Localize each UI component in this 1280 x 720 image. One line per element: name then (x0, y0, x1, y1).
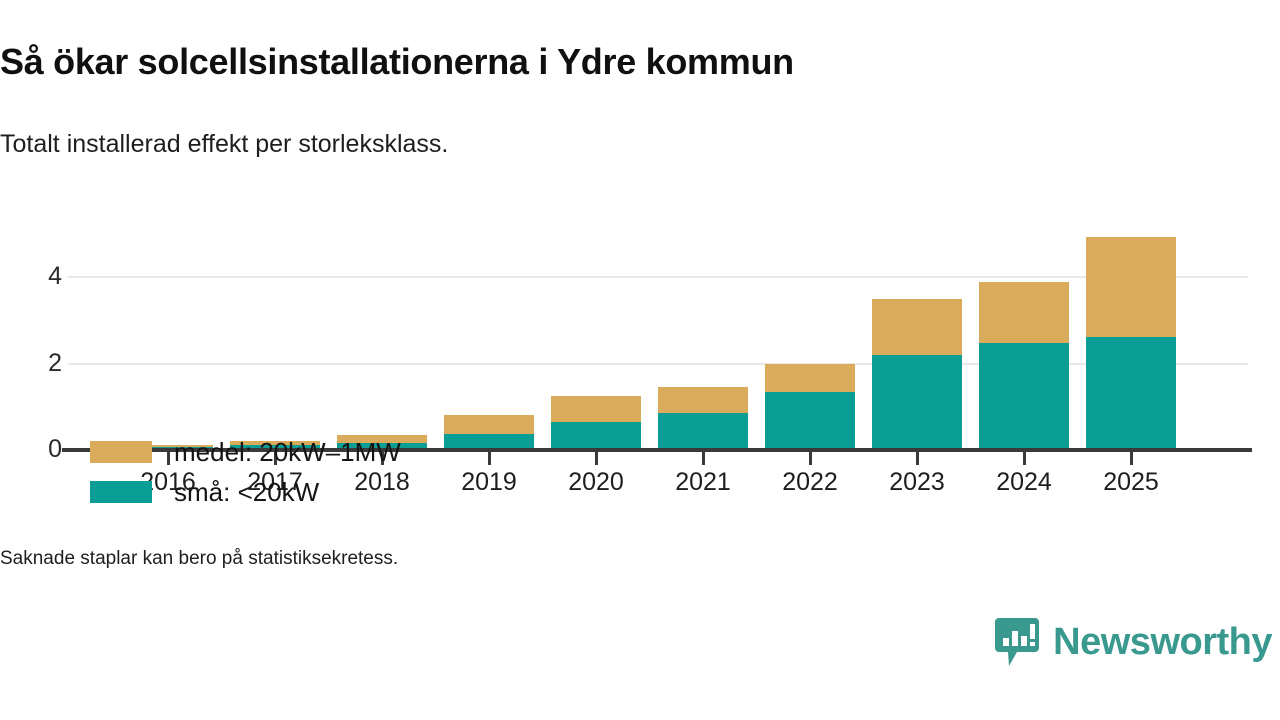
x-tick-label-2022: 2022 (750, 468, 870, 497)
bar-segment-sma-2023[interactable] (872, 355, 962, 450)
footnote: Saknade staplar kan bero på statistiksek… (0, 548, 398, 570)
page-title: Så ökar solcellsinstallationerna i Ydre … (0, 42, 1240, 82)
bar-segment-sma-2021[interactable] (658, 413, 748, 450)
x-tick-label-2020: 2020 (536, 468, 656, 497)
bar-group-2022[interactable] (765, 364, 855, 450)
x-tick-2019 (488, 452, 491, 465)
x-tick-label-2021: 2021 (643, 468, 763, 497)
y-tick-label-0: 0 (16, 437, 62, 462)
bar-segment-sma-2020[interactable] (551, 422, 641, 450)
legend-item-medel[interactable]: medel: 20kW–1MW (90, 432, 401, 472)
bar-segment-sma-2022[interactable] (765, 392, 855, 450)
x-tick-2024 (1023, 452, 1026, 465)
bar-segment-sma-2025[interactable] (1086, 337, 1176, 450)
bar-segment-medel-2019[interactable] (444, 415, 534, 434)
plot-area (68, 200, 1248, 450)
x-tick-2020 (595, 452, 598, 465)
x-tick-2025 (1130, 452, 1133, 465)
x-tick-label-2024: 2024 (964, 468, 1084, 497)
bar-segment-medel-2021[interactable] (658, 387, 748, 413)
legend-swatch-sma (90, 481, 152, 503)
bar-segment-medel-2023[interactable] (872, 299, 962, 355)
x-tick-2023 (916, 452, 919, 465)
y-tick-label-4: 4 (16, 264, 62, 289)
bar-segment-medel-2025[interactable] (1086, 237, 1176, 336)
bar-group-2025[interactable] (1086, 237, 1176, 450)
bar-chart: 024 201620172018201920202021202220232024… (0, 200, 1280, 520)
y-tick-label-2: 2 (16, 351, 62, 376)
legend-label-medel: medel: 20kW–1MW (174, 437, 401, 468)
page-subtitle: Totalt installerad effekt per storlekskl… (0, 130, 1200, 159)
brand-logo[interactable]: Newsworthy (995, 618, 1272, 666)
chart-legend: medel: 20kW–1MW små: <20kW (90, 432, 401, 512)
chart-page: Så ökar solcellsinstallationerna i Ydre … (0, 0, 1280, 720)
x-tick-label-2025: 2025 (1071, 468, 1191, 497)
bar-group-2024[interactable] (979, 282, 1069, 450)
x-tick-label-2019: 2019 (429, 468, 549, 497)
legend-swatch-medel (90, 441, 152, 463)
brand-name: Newsworthy (1053, 621, 1272, 664)
bar-segment-medel-2024[interactable] (979, 282, 1069, 343)
y-axis: 024 (0, 200, 62, 450)
bar-segment-medel-2020[interactable] (551, 396, 641, 423)
bar-group-2023[interactable] (872, 299, 962, 450)
x-tick-2022 (809, 452, 812, 465)
legend-label-sma: små: <20kW (174, 477, 319, 508)
x-tick-label-2023: 2023 (857, 468, 977, 497)
bar-series-container (68, 200, 1248, 450)
bar-group-2020[interactable] (551, 396, 641, 450)
bar-group-2019[interactable] (444, 415, 534, 450)
bar-chart-speech-bubble-icon (995, 618, 1039, 666)
bar-segment-medel-2022[interactable] (765, 364, 855, 393)
bar-group-2021[interactable] (658, 387, 748, 450)
legend-item-sma[interactable]: små: <20kW (90, 472, 401, 512)
bar-segment-sma-2024[interactable] (979, 343, 1069, 450)
x-tick-2021 (702, 452, 705, 465)
